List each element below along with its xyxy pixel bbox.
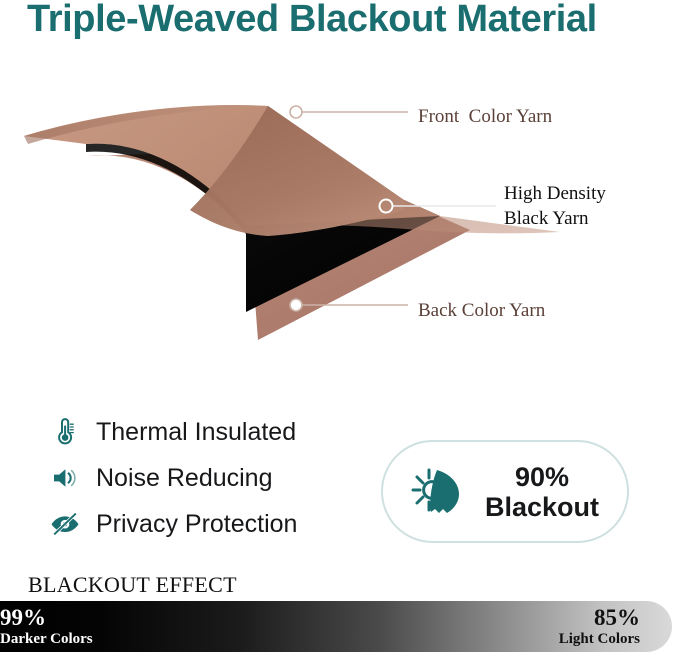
blackout-effect-heading: BLACKOUT EFFECT bbox=[28, 572, 237, 598]
blackout-effect-left-label: Darker Colors bbox=[0, 630, 93, 648]
blackout-badge: 90%Blackout bbox=[381, 440, 629, 543]
callout-label-black-line2: Black Yarn bbox=[504, 208, 588, 229]
feature-label-privacy: Privacy Protection bbox=[96, 510, 297, 539]
sun-blocked-by-curtain-icon bbox=[405, 463, 471, 521]
feature-label-thermal: Thermal Insulated bbox=[96, 418, 296, 447]
blackout-effect-right: 85% Light Colors bbox=[559, 606, 640, 648]
page-title: Triple-Weaved Blackout Material bbox=[27, 0, 597, 41]
thermometer-icon bbox=[48, 415, 82, 449]
speaker-sound-icon bbox=[48, 461, 82, 495]
callout-label-black-line1: High Density bbox=[504, 183, 606, 204]
eye-slash-icon bbox=[48, 507, 82, 541]
callout-dot-icon bbox=[290, 299, 302, 311]
blackout-effect-right-label: Light Colors bbox=[559, 630, 640, 648]
callout-label-front: Front Color Yarn bbox=[418, 105, 552, 129]
callout-dot-icon bbox=[290, 106, 302, 118]
blackout-effect-left: 99% Darker Colors bbox=[0, 606, 93, 648]
callout-front bbox=[290, 106, 408, 118]
blackout-percent: 90% bbox=[515, 462, 569, 492]
callout-label-back: Back Color Yarn bbox=[418, 299, 545, 323]
blackout-effect-left-percent: 99% bbox=[0, 606, 93, 630]
feature-label-noise: Noise Reducing bbox=[96, 464, 273, 493]
feature-item-noise: Noise Reducing bbox=[48, 456, 378, 500]
blackout-badge-text: 90%Blackout bbox=[485, 462, 599, 522]
feature-list: Thermal Insulated Noise Reducing Privacy… bbox=[48, 410, 378, 548]
blackout-effect-right-percent: 85% bbox=[559, 606, 640, 630]
blackout-effect-bar: 99% Darker Colors 85% Light Colors bbox=[0, 601, 672, 652]
blackout-label: Blackout bbox=[485, 492, 599, 522]
callout-label-black: High DensityBlack Yarn bbox=[504, 181, 606, 231]
feature-item-privacy: Privacy Protection bbox=[48, 502, 378, 546]
feature-item-thermal: Thermal Insulated bbox=[48, 410, 378, 454]
